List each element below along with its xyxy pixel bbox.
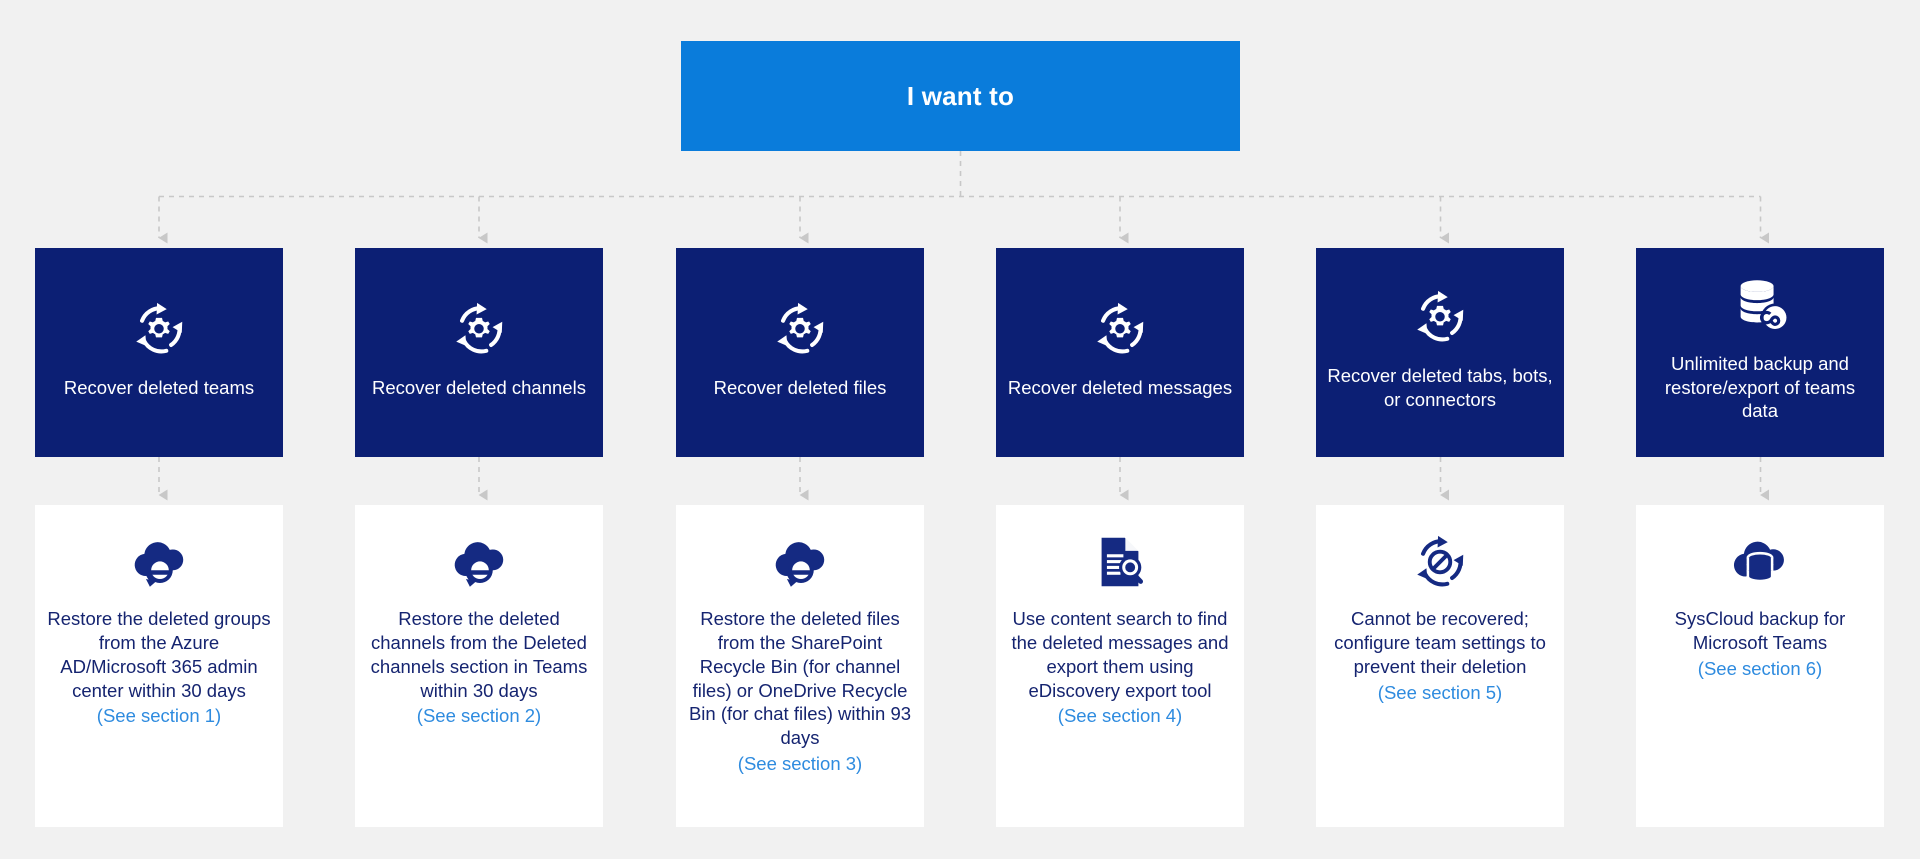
database-infinity-icon	[1729, 274, 1791, 336]
node-bottom-section-link[interactable]: (See section 6)	[1698, 657, 1822, 681]
node-top-recover-deleted-tabs[interactable]: Recover deleted tabs, bots, or connector…	[1316, 248, 1564, 457]
cloud-restore-icon	[448, 531, 510, 593]
cloud-restore-icon	[769, 531, 831, 593]
node-bottom-restore-channels[interactable]: Restore the deleted channels from the De…	[355, 505, 603, 827]
node-bottom-text: Restore the deleted files from the Share…	[688, 607, 912, 750]
node-bottom-section-link[interactable]: (See section 1)	[97, 704, 221, 728]
node-bottom-restore-files[interactable]: Restore the deleted files from the Share…	[676, 505, 924, 827]
node-top-label: Recover deleted teams	[64, 376, 254, 399]
refresh-gear-icon	[448, 298, 510, 360]
node-top-label: Recover deleted channels	[372, 376, 586, 399]
node-top-recover-deleted-files[interactable]: Recover deleted files	[676, 248, 924, 457]
node-bottom-text: SysCloud backup for Microsoft Teams	[1648, 607, 1872, 655]
document-search-icon	[1089, 531, 1151, 593]
node-bottom-syscloud-backup[interactable]: SysCloud backup for Microsoft Teams (See…	[1636, 505, 1884, 827]
cloud-restore-icon	[128, 531, 190, 593]
node-top-label: Unlimited backup and restore/export of t…	[1646, 352, 1874, 422]
node-top-label: Recover deleted files	[714, 376, 887, 399]
node-top-label: Recover deleted tabs, bots, or connector…	[1326, 364, 1554, 411]
columns-container: Recover deleted teams Restore the delete…	[0, 0, 1920, 859]
node-top-recover-deleted-channels[interactable]: Recover deleted channels	[355, 248, 603, 457]
node-bottom-section-link[interactable]: (See section 4)	[1058, 704, 1182, 728]
node-bottom-text: Cannot be recovered; configure team sett…	[1328, 607, 1552, 679]
node-top-unlimited-backup[interactable]: Unlimited backup and restore/export of t…	[1636, 248, 1884, 457]
node-bottom-content-search[interactable]: Use content search to find the deleted m…	[996, 505, 1244, 827]
node-bottom-restore-teams[interactable]: Restore the deleted groups from the Azur…	[35, 505, 283, 827]
refresh-gear-icon	[1409, 286, 1471, 348]
refresh-gear-icon	[1089, 298, 1151, 360]
node-bottom-text: Use content search to find the deleted m…	[1008, 607, 1232, 702]
refresh-gear-icon	[128, 298, 190, 360]
node-bottom-text: Restore the deleted channels from the De…	[367, 607, 591, 702]
node-bottom-section-link[interactable]: (See section 5)	[1378, 681, 1502, 705]
node-top-recover-deleted-teams[interactable]: Recover deleted teams	[35, 248, 283, 457]
node-bottom-cannot-be-recovered[interactable]: Cannot be recovered; configure team sett…	[1316, 505, 1564, 827]
flowchart-canvas: I want to Recover deleted teams	[0, 0, 1920, 859]
node-top-recover-deleted-messages[interactable]: Recover deleted messages	[996, 248, 1244, 457]
cloud-database-icon	[1729, 531, 1791, 593]
refresh-blocked-icon	[1409, 531, 1471, 593]
node-bottom-text: Restore the deleted groups from the Azur…	[47, 607, 271, 702]
node-bottom-section-link[interactable]: (See section 2)	[417, 704, 541, 728]
refresh-gear-icon	[769, 298, 831, 360]
node-top-label: Recover deleted messages	[1008, 376, 1232, 399]
node-bottom-section-link[interactable]: (See section 3)	[738, 752, 862, 776]
